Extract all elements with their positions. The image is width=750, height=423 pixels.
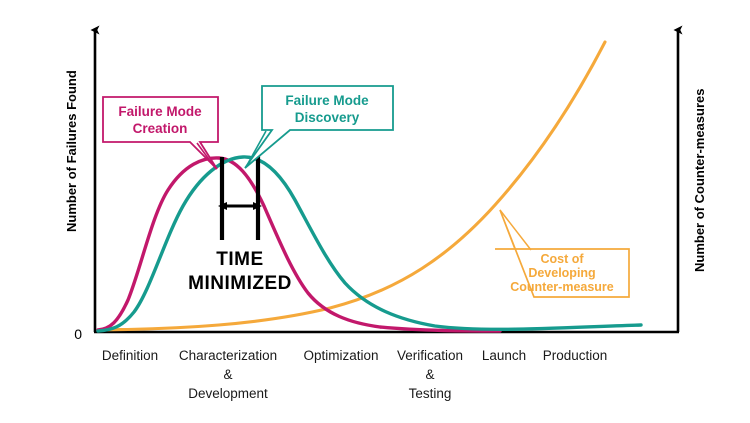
- x-label-characterization-line3: Development: [188, 386, 268, 401]
- x-label-verification-line1: Verification: [397, 348, 463, 363]
- callout-label-creation-line2: Creation: [133, 121, 188, 136]
- left-axis-title: Number of Failures Found: [64, 70, 79, 232]
- x-label-verification-line3: Testing: [409, 386, 452, 401]
- x-label-definition-line1: Definition: [102, 348, 158, 363]
- x-label-characterization-line2: &: [223, 367, 232, 382]
- callout-label-cost-line3: Counter-measure: [510, 280, 614, 294]
- left-axis-zero-tick: 0: [74, 326, 82, 342]
- callout-label-cost-line2: Developing: [528, 266, 595, 280]
- time-minimized-line1: TIME: [216, 249, 263, 270]
- time-minimized-line2: MINIMIZED: [188, 273, 292, 294]
- x-label-verification-line2: &: [425, 367, 434, 382]
- x-label-launch-line1: Launch: [482, 348, 526, 363]
- chart-canvas: Number of Failures Found 0 Number of Cou…: [0, 0, 750, 423]
- right-axis-title: Number of Counter-measures: [692, 89, 707, 272]
- x-label-production-line1: Production: [543, 348, 608, 363]
- callout-label-creation-line1: Failure Mode: [118, 104, 202, 119]
- callout-label-cost-line1: Cost of: [540, 252, 584, 266]
- x-label-optimization-line1: Optimization: [303, 348, 378, 363]
- callout-label-discovery-line1: Failure Mode: [285, 93, 369, 108]
- x-label-characterization-line1: Characterization: [179, 348, 277, 363]
- callout-label-discovery-line2: Discovery: [295, 110, 360, 125]
